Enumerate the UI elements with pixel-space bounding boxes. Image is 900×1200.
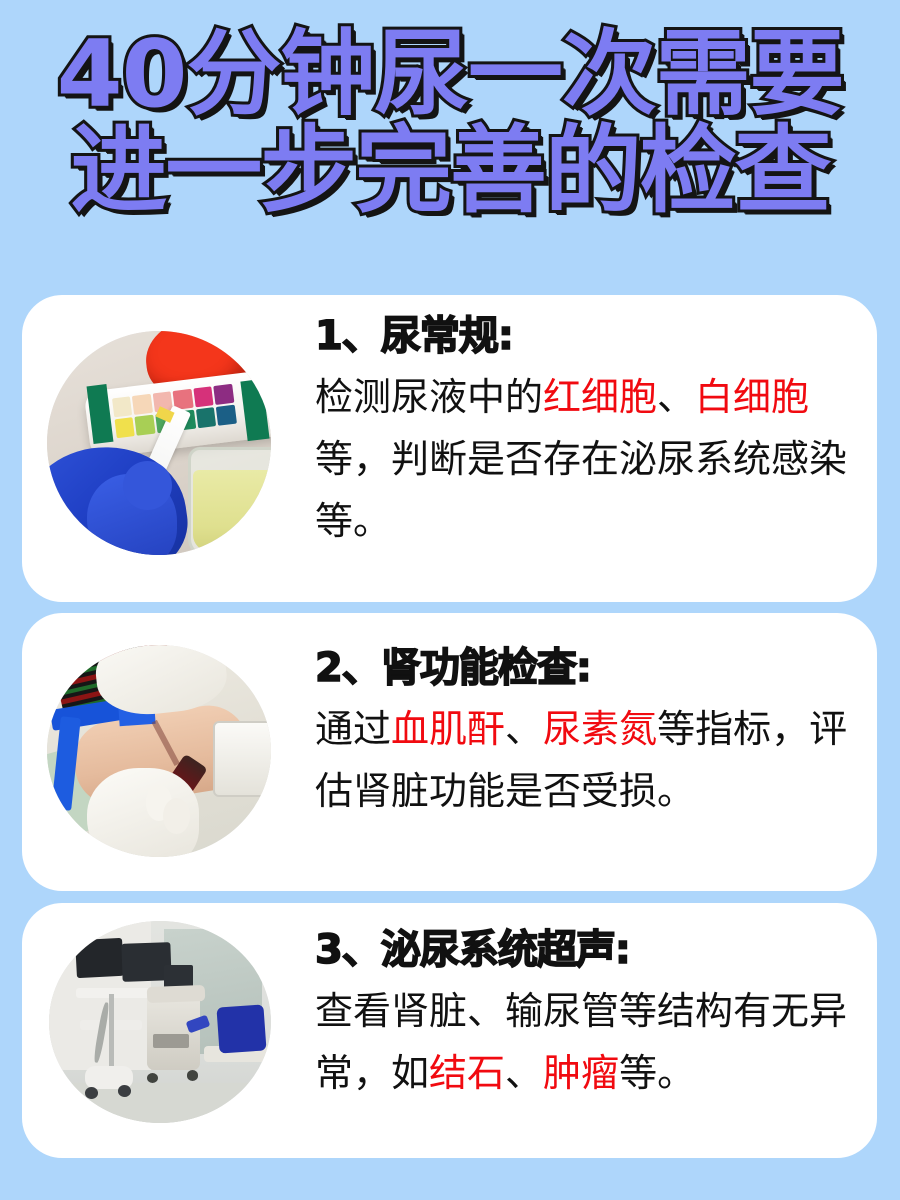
highlighted-term: 结石 (429, 1053, 505, 1095)
info-card-kidney-function: 2、肾功能检查: 通过血肌酐、尿素氮等指标，评估肾脏功能是否受损。 (22, 613, 877, 891)
gloved-finger (163, 798, 190, 834)
paragraph-text: 等。 (619, 1053, 695, 1095)
blood-draw-photo (47, 645, 271, 857)
caster-wheel (85, 1087, 98, 1099)
room-floor (49, 1083, 271, 1123)
urine-sample (193, 470, 271, 551)
chart-swatch (214, 384, 235, 405)
card-heading: 2、肾功能检查: (315, 643, 877, 693)
card-text-block: 3、泌尿系统超声: 查看肾脏、输尿管等结构有无异常，如结石、肿瘤等。 (271, 903, 877, 1105)
paragraph-text: 通过 (315, 709, 391, 751)
chart-swatch (196, 408, 217, 429)
chart-swatch (135, 415, 156, 436)
paragraph-text: 、 (505, 1053, 543, 1095)
blue-exam-chair (216, 1004, 266, 1054)
page-title: 40分钟尿一次需要 进一步完善的检查 (0, 26, 900, 220)
machine-controls (153, 1034, 189, 1048)
info-card-urinalysis: 1、尿常规: 检测尿液中的红细胞、白细胞等，判断是否存在泌尿系统感染等。 (22, 295, 877, 602)
sample-tube-rack (213, 721, 271, 797)
paragraph-text: 等，判断是否存在泌尿系统感染等。 (315, 439, 847, 543)
title-line-2: 进一步完善的检查 (0, 123, 900, 220)
card-text-block: 1、尿常规: 检测尿液中的红细胞、白细胞等，判断是否存在泌尿系统感染等。 (271, 295, 877, 553)
chart-swatch (115, 418, 136, 439)
info-card-ultrasound: 3、泌尿系统超声: 查看肾脏、输尿管等结构有无异常，如结石、肿瘤等。 (22, 903, 877, 1158)
display-monitor (75, 938, 124, 979)
chart-swatch (216, 405, 237, 426)
chart-swatch (194, 387, 215, 408)
card-heading: 3、泌尿系统超声: (315, 925, 877, 975)
card-paragraph: 检测尿液中的红细胞、白细胞等，判断是否存在泌尿系统感染等。 (315, 367, 877, 553)
chart-swatch (112, 397, 133, 418)
highlighted-term: 血肌酐 (391, 709, 505, 751)
ultrasound-room-photo (49, 921, 271, 1123)
highlighted-term: 尿素氮 (543, 709, 657, 751)
highlighted-term: 红细胞 (543, 377, 657, 419)
paragraph-text: 、 (657, 377, 695, 419)
paragraph-text: 、 (505, 709, 543, 751)
caster-wheel (187, 1070, 198, 1080)
urine-dipstick-photo (47, 331, 271, 555)
ultrasound-console (146, 985, 204, 1003)
title-line-1: 40分钟尿一次需要 (0, 26, 900, 123)
caster-wheel (118, 1085, 131, 1097)
paragraph-text: 检测尿液中的 (315, 377, 543, 419)
card-heading: 1、尿常规: (315, 311, 877, 361)
card-paragraph: 通过血肌酐、尿素氮等指标，评估肾脏功能是否受损。 (315, 699, 877, 823)
caster-wheel (147, 1073, 158, 1083)
highlighted-term: 肿瘤 (543, 1053, 619, 1095)
card-text-block: 2、肾功能检查: 通过血肌酐、尿素氮等指标，评估肾脏功能是否受损。 (271, 613, 877, 823)
highlighted-term: 白细胞 (695, 377, 809, 419)
card-paragraph: 查看肾脏、输尿管等结构有无异常，如结石、肿瘤等。 (315, 981, 877, 1105)
chart-swatch (133, 394, 154, 415)
